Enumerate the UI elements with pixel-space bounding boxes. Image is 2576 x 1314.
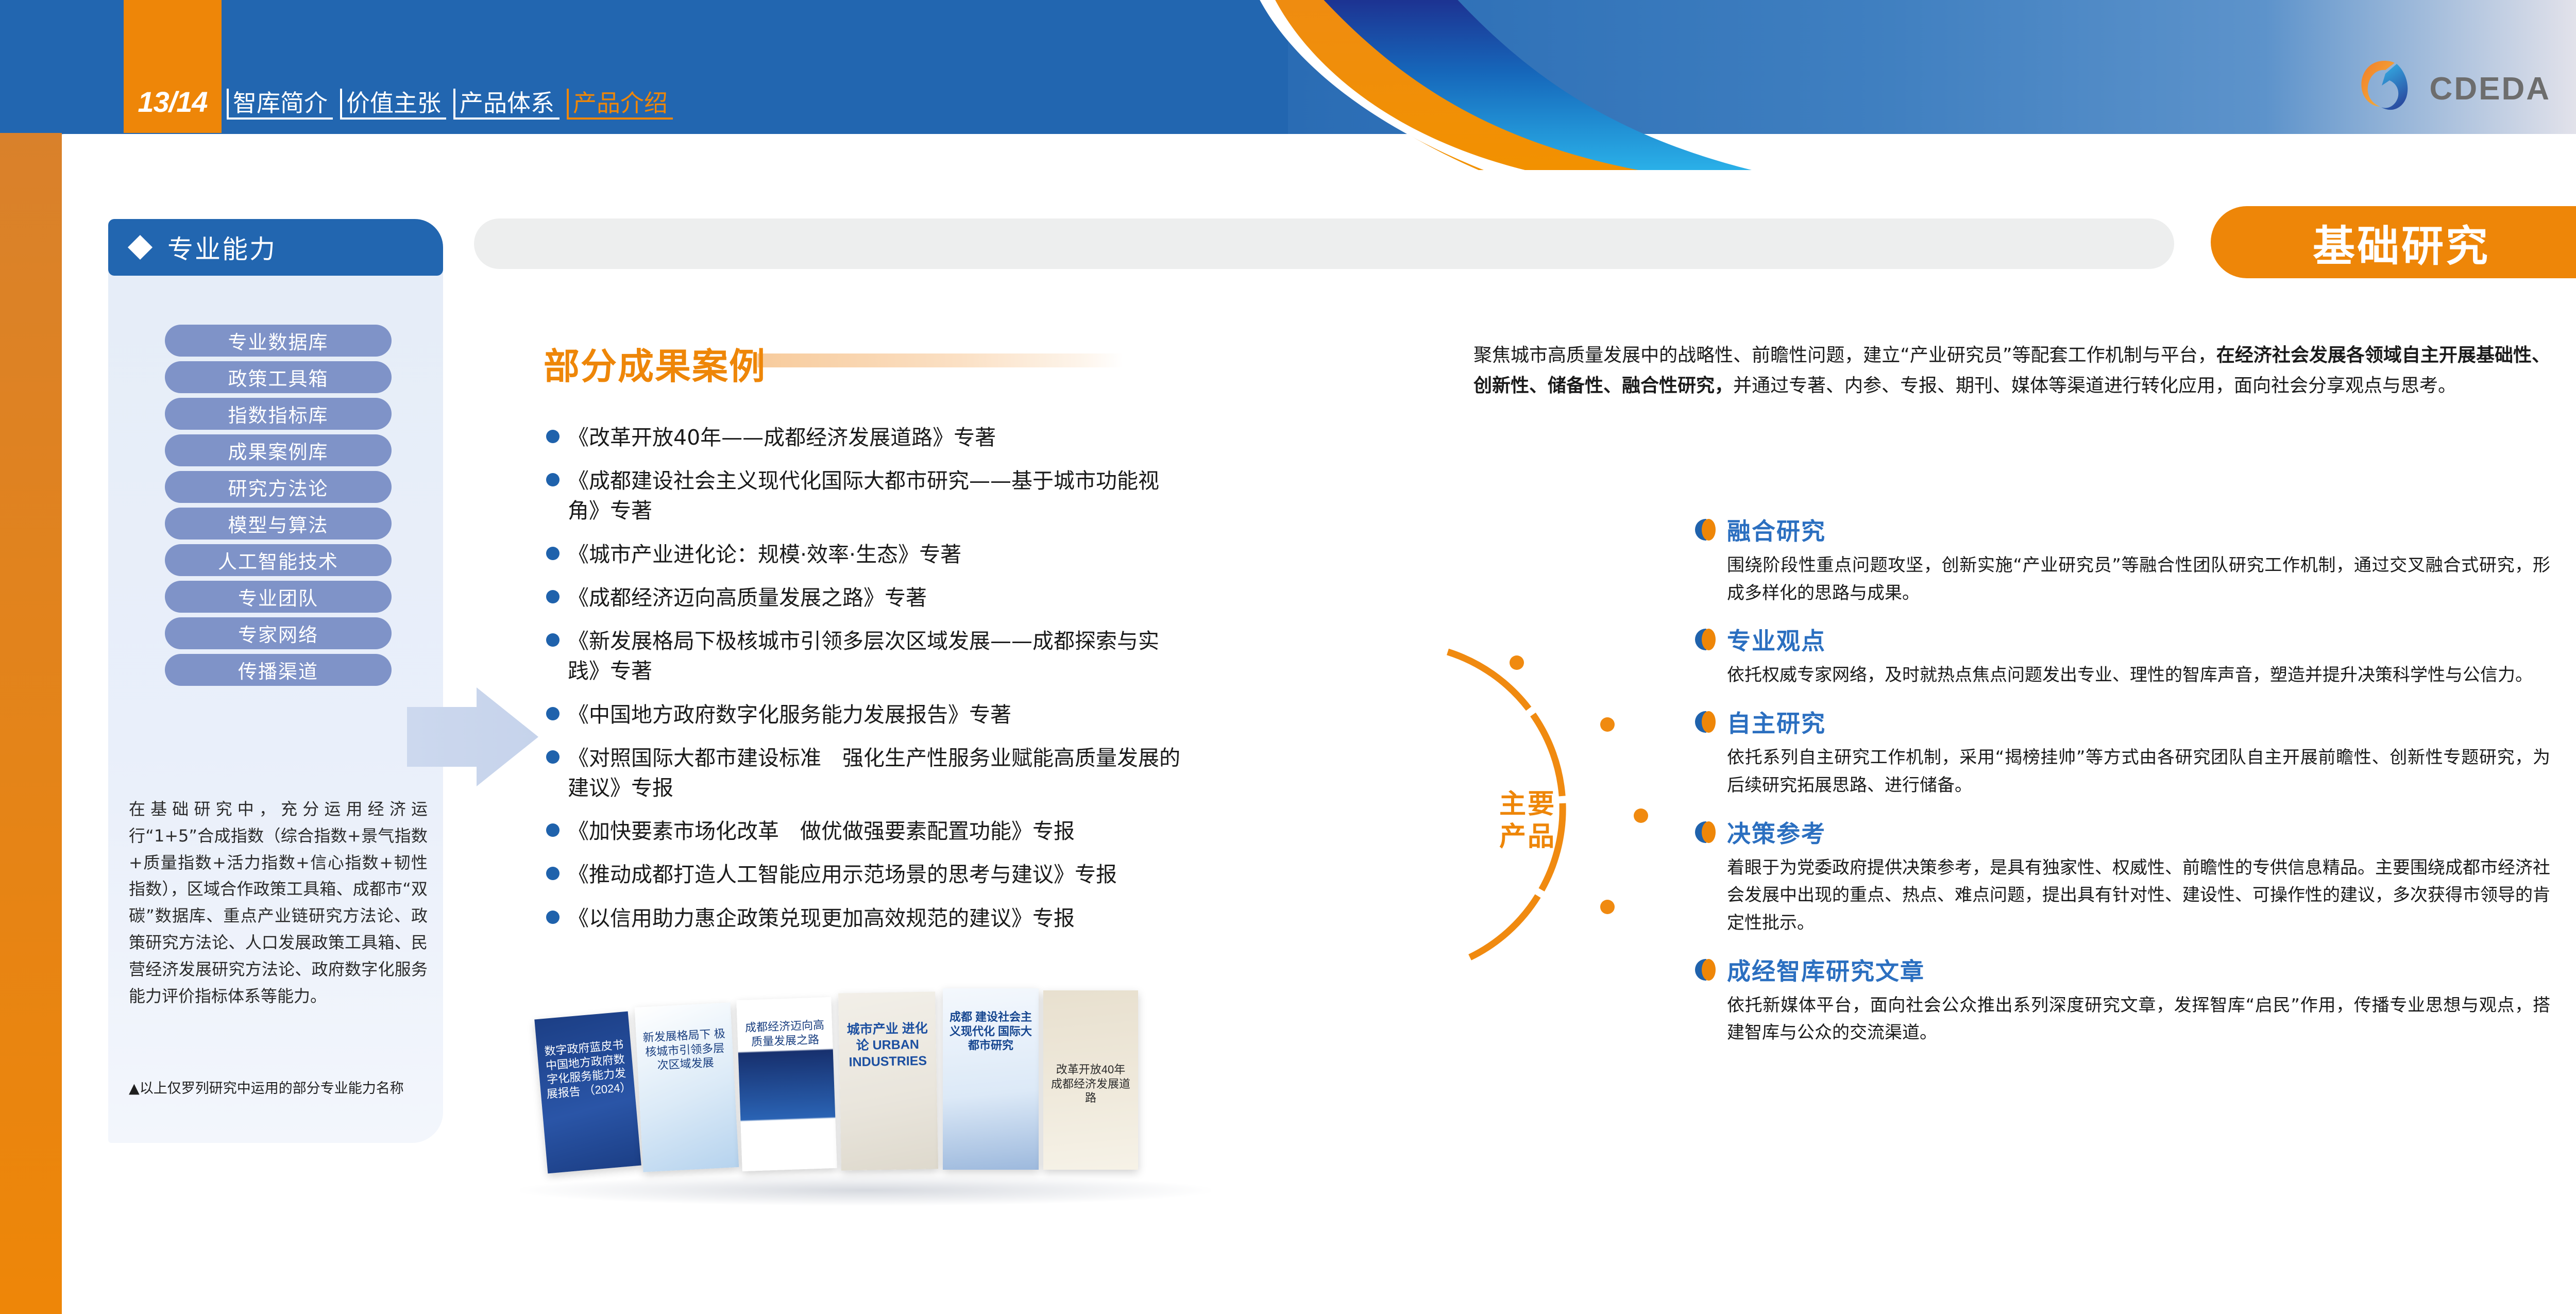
intro-text-part1: 聚焦城市高质量发展中的战略性、前瞻性问题，建立“产业研究员”等配套工作机制与平台… bbox=[1473, 345, 2216, 366]
title-grey-bar bbox=[474, 218, 2174, 269]
main-products-label-line1: 主要 bbox=[1471, 788, 1584, 821]
capability-pill[interactable]: 成果案例库 bbox=[165, 434, 392, 466]
research-item-header: 自主研究 bbox=[1695, 705, 2550, 739]
slide-canvas: 13/14 智库简介 价值主张 产品体系 产品介绍 bbox=[0, 0, 2576, 1314]
capability-pill-label: 研究方法论 bbox=[228, 473, 329, 501]
capability-pill[interactable]: 专家网络 bbox=[165, 617, 392, 649]
book-cover: 改革开放40年 成都经济发展道路 bbox=[1043, 990, 1138, 1170]
list-item: 《改革开放40年——成都经济发展道路》专著 bbox=[546, 423, 1190, 452]
list-item: 《新发展格局下极核城市引领多层次区域发展——成都探索与实践》专著 bbox=[546, 626, 1190, 686]
results-title-underline bbox=[757, 353, 1123, 367]
nav-item-1[interactable]: 价值主张 bbox=[340, 89, 446, 120]
research-item-header: 决策参考 bbox=[1695, 815, 2550, 849]
capability-pill-label: 专家网络 bbox=[238, 619, 318, 647]
bullet-dot-icon bbox=[546, 547, 560, 560]
section-title-banner: 基础研究 bbox=[2211, 206, 2576, 278]
intro-text-part2: 并通过专著、内参、专报、期刊、媒体等渠道进行转化应用，面向社会分享观点与思考。 bbox=[1733, 375, 2456, 396]
sidebar-header: 专业能力 bbox=[108, 219, 443, 276]
sidebar-footnote: ▲以上仅罗列研究中运用的部分专业能力名称 bbox=[129, 1077, 438, 1097]
header-swoosh-decoration bbox=[1236, 0, 1958, 170]
research-item: 自主研究 依托系列自主研究工作机制，采用“揭榜挂帅”等方式由各研究团队自主开展前… bbox=[1695, 705, 2550, 799]
research-item: 决策参考 着眼于为党委政府提供决策参考，是具有独家性、权威性、前瞻性的专供信息精… bbox=[1695, 815, 2550, 937]
bullet-dot-icon bbox=[546, 430, 560, 443]
bullet-dot-icon bbox=[546, 707, 560, 720]
capability-pill[interactable]: 传播渠道 bbox=[165, 654, 392, 686]
page-number-badge: 13/14 bbox=[124, 0, 222, 133]
list-item: 《成都经济迈向高质量发展之路》专著 bbox=[546, 583, 1190, 613]
book-cover-title: 成都 建设社会主义现代化 国际大都市研究 bbox=[948, 1010, 1033, 1053]
list-item: 《推动成都打造人工智能应用示范场景的思考与建议》专报 bbox=[546, 860, 1190, 889]
dual-circle-icon bbox=[1695, 711, 1716, 733]
dual-circle-icon bbox=[1695, 519, 1716, 541]
main-products-label: 主要 产品 bbox=[1471, 788, 1584, 854]
capability-pill[interactable]: 研究方法论 bbox=[165, 471, 392, 503]
book-cover: 成都 建设社会主义现代化 国际大都市研究 bbox=[943, 988, 1039, 1170]
list-item-label: 《成都建设社会主义现代化国际大都市研究——基于城市功能视角》专著 bbox=[568, 466, 1190, 526]
nav-item-0[interactable]: 智库简介 bbox=[227, 89, 333, 120]
list-item: 《对照国际大都市建设标准 强化生产性服务业赋能高质量发展的建议》专报 bbox=[546, 743, 1190, 803]
diamond-icon bbox=[128, 235, 152, 260]
page-number-label: 13/14 bbox=[138, 85, 207, 133]
cdeda-swirl-logo-icon bbox=[2353, 57, 2415, 121]
book-cover: 成都经济迈向高质量发展之路 bbox=[736, 997, 837, 1171]
nav-item-3[interactable]: 产品介绍 bbox=[567, 89, 673, 120]
sidebar-heading-label: 专业能力 bbox=[167, 229, 277, 266]
capability-pill-list: 专业数据库 政策工具箱 指数指标库 成果案例库 研究方法论 模型与算法 人工智能… bbox=[165, 325, 392, 690]
book-cover-title: 数字政府蓝皮书 中国地方政府数字化服务能力发展报告 （2024） bbox=[542, 1037, 629, 1101]
bullet-dot-icon bbox=[546, 911, 560, 924]
right-arrow-icon bbox=[407, 670, 541, 804]
bullet-dot-icon bbox=[546, 633, 560, 647]
bullet-dot-icon bbox=[546, 590, 560, 603]
left-orange-stripe bbox=[0, 133, 62, 1314]
list-item-label: 《改革开放40年——成都经济发展道路》专著 bbox=[568, 423, 996, 452]
header-nav: 智库简介 价值主张 产品体系 产品介绍 bbox=[227, 0, 680, 133]
list-item-label: 《中国地方政府数字化服务能力发展报告》专著 bbox=[568, 700, 1011, 730]
list-item-label: 《新发展格局下极核城市引领多层次区域发展——成都探索与实践》专著 bbox=[568, 626, 1190, 686]
capability-pill[interactable]: 政策工具箱 bbox=[165, 361, 392, 393]
list-item-label: 《以信用助力惠企政策兑现更加高效规范的建议》专报 bbox=[568, 903, 1075, 933]
capability-pill[interactable]: 专业数据库 bbox=[165, 325, 392, 357]
book-cover-title: 新发展格局下 极核城市引领多层次区域发展 bbox=[641, 1026, 728, 1073]
bullet-dot-icon bbox=[546, 750, 560, 764]
results-title: 部分成果案例 bbox=[544, 338, 766, 390]
book-cover-title: 改革开放40年 成都经济发展道路 bbox=[1049, 1063, 1132, 1105]
section-title-label: 基础研究 bbox=[2313, 212, 2490, 273]
capability-pill[interactable]: 人工智能技术 bbox=[165, 544, 392, 576]
research-item-body: 依托权威专家网络，及时就热点焦点问题发出专业、理性的智库声音，塑造并提升决策科学… bbox=[1695, 662, 2550, 689]
bullet-dot-icon bbox=[546, 867, 560, 880]
research-item-title: 专业观点 bbox=[1727, 622, 1826, 656]
capability-pill-label: 人工智能技术 bbox=[218, 546, 338, 574]
research-item-list: 融合研究 围绕阶段性重点问题攻坚，创新实施“产业研究员”等融合性团队研究工作机制… bbox=[1695, 513, 2550, 1063]
bullet-dot-icon bbox=[546, 823, 560, 837]
research-item: 成经智库研究文章 依托新媒体平台，面向社会公众推出系列深度研究文章，发挥智库“启… bbox=[1695, 953, 2550, 1047]
results-list: 《改革开放40年——成都经济发展道路》专著 《成都建设社会主义现代化国际大都市研… bbox=[546, 423, 1190, 947]
capability-pill-label: 成果案例库 bbox=[228, 436, 329, 464]
research-item-header: 融合研究 bbox=[1695, 513, 2550, 547]
research-item-body: 围绕阶段性重点问题攻坚，创新实施“产业研究员”等融合性团队研究工作机制，通过交叉… bbox=[1695, 552, 2550, 607]
list-item-label: 《成都经济迈向高质量发展之路》专著 bbox=[568, 583, 927, 613]
dual-circle-icon bbox=[1695, 959, 1716, 981]
book-cover-row: 数字政府蓝皮书 中国地方政府数字化服务能力发展报告 （2024） 新发展格局下 … bbox=[536, 979, 1206, 1185]
research-item-body: 依托系列自主研究工作机制，采用“揭榜挂帅”等方式由各研究团队自主开展前瞻性、创新… bbox=[1695, 744, 2550, 799]
list-item: 《城市产业进化论：规模·效率·生态》专著 bbox=[546, 540, 1190, 569]
capability-pill-label: 专业团队 bbox=[238, 583, 318, 611]
list-item: 《以信用助力惠企政策兑现更加高效规范的建议》专报 bbox=[546, 903, 1190, 933]
list-item-label: 《城市产业进化论：规模·效率·生态》专著 bbox=[568, 540, 961, 569]
research-item: 专业观点 依托权威专家网络，及时就热点焦点问题发出专业、理性的智库声音，塑造并提… bbox=[1695, 622, 2550, 689]
research-item-header: 成经智库研究文章 bbox=[1695, 953, 2550, 987]
list-item: 《加快要素市场化改革 做优做强要素配置功能》专报 bbox=[546, 816, 1190, 846]
research-item-header: 专业观点 bbox=[1695, 622, 2550, 656]
research-item-title: 自主研究 bbox=[1727, 705, 1826, 739]
intro-paragraph: 聚焦城市高质量发展中的战略性、前瞻性问题，建立“产业研究员”等配套工作机制与平台… bbox=[1473, 340, 2550, 401]
list-item-label: 《推动成都打造人工智能应用示范场景的思考与建议》专报 bbox=[568, 860, 1117, 889]
research-item-body: 着眼于为党委政府提供决策参考，是具有独家性、权威性、前瞻性的专供信息精品。主要围… bbox=[1695, 854, 2550, 937]
book-cover: 新发展格局下 极核城市引领多层次区域发展 bbox=[635, 1002, 739, 1172]
book-cover-title: 成都经济迈向高质量发展之路 bbox=[743, 1018, 827, 1049]
list-item: 《成都建设社会主义现代化国际大都市研究——基于城市功能视角》专著 bbox=[546, 466, 1190, 526]
capability-pill-label: 模型与算法 bbox=[228, 510, 329, 537]
list-item-label: 《对照国际大都市建设标准 强化生产性服务业赋能高质量发展的建议》专报 bbox=[568, 743, 1190, 803]
capability-pill-label: 专业数据库 bbox=[228, 327, 329, 355]
list-item: 《中国地方政府数字化服务能力发展报告》专著 bbox=[546, 700, 1190, 730]
book-cover-title: 城市产业 进化论 URBAN INDUSTRIES bbox=[844, 1021, 930, 1071]
brand-logo: CDEDA bbox=[2353, 57, 2551, 121]
nav-item-2[interactable]: 产品体系 bbox=[453, 89, 560, 120]
book-cover: 城市产业 进化论 URBAN INDUSTRIES bbox=[838, 991, 938, 1170]
main-products-label-line2: 产品 bbox=[1471, 821, 1584, 853]
research-item-title: 决策参考 bbox=[1727, 815, 1826, 849]
research-item: 融合研究 围绕阶段性重点问题攻坚，创新实施“产业研究员”等融合性团队研究工作机制… bbox=[1695, 513, 2550, 607]
sidebar-paragraph: 在基础研究中，充分运用经济运行“1+5”合成指数（综合指数+景气指数+质量指数+… bbox=[129, 796, 428, 1010]
capability-pill-label: 指数指标库 bbox=[228, 400, 329, 428]
dual-circle-icon bbox=[1695, 821, 1716, 843]
bullet-dot-icon bbox=[546, 473, 560, 486]
research-item-title: 融合研究 bbox=[1727, 513, 1826, 547]
capability-pill-label: 传播渠道 bbox=[238, 656, 318, 684]
capability-pill-label: 政策工具箱 bbox=[228, 363, 329, 391]
capability-pill[interactable]: 指数指标库 bbox=[165, 398, 392, 430]
capability-pill[interactable]: 模型与算法 bbox=[165, 508, 392, 540]
research-item-title: 成经智库研究文章 bbox=[1727, 953, 1925, 987]
capability-pill[interactable]: 专业团队 bbox=[165, 581, 392, 613]
brand-logo-text: CDEDA bbox=[2430, 71, 2551, 107]
list-item-label: 《加快要素市场化改革 做优做强要素配置功能》专报 bbox=[568, 816, 1075, 846]
book-cover: 数字政府蓝皮书 中国地方政府数字化服务能力发展报告 （2024） bbox=[534, 1012, 641, 1174]
research-item-body: 依托新媒体平台，面向社会公众推出系列深度研究文章，发挥智库“启民”作用，传播专业… bbox=[1695, 992, 2550, 1047]
dual-circle-icon bbox=[1695, 629, 1716, 650]
